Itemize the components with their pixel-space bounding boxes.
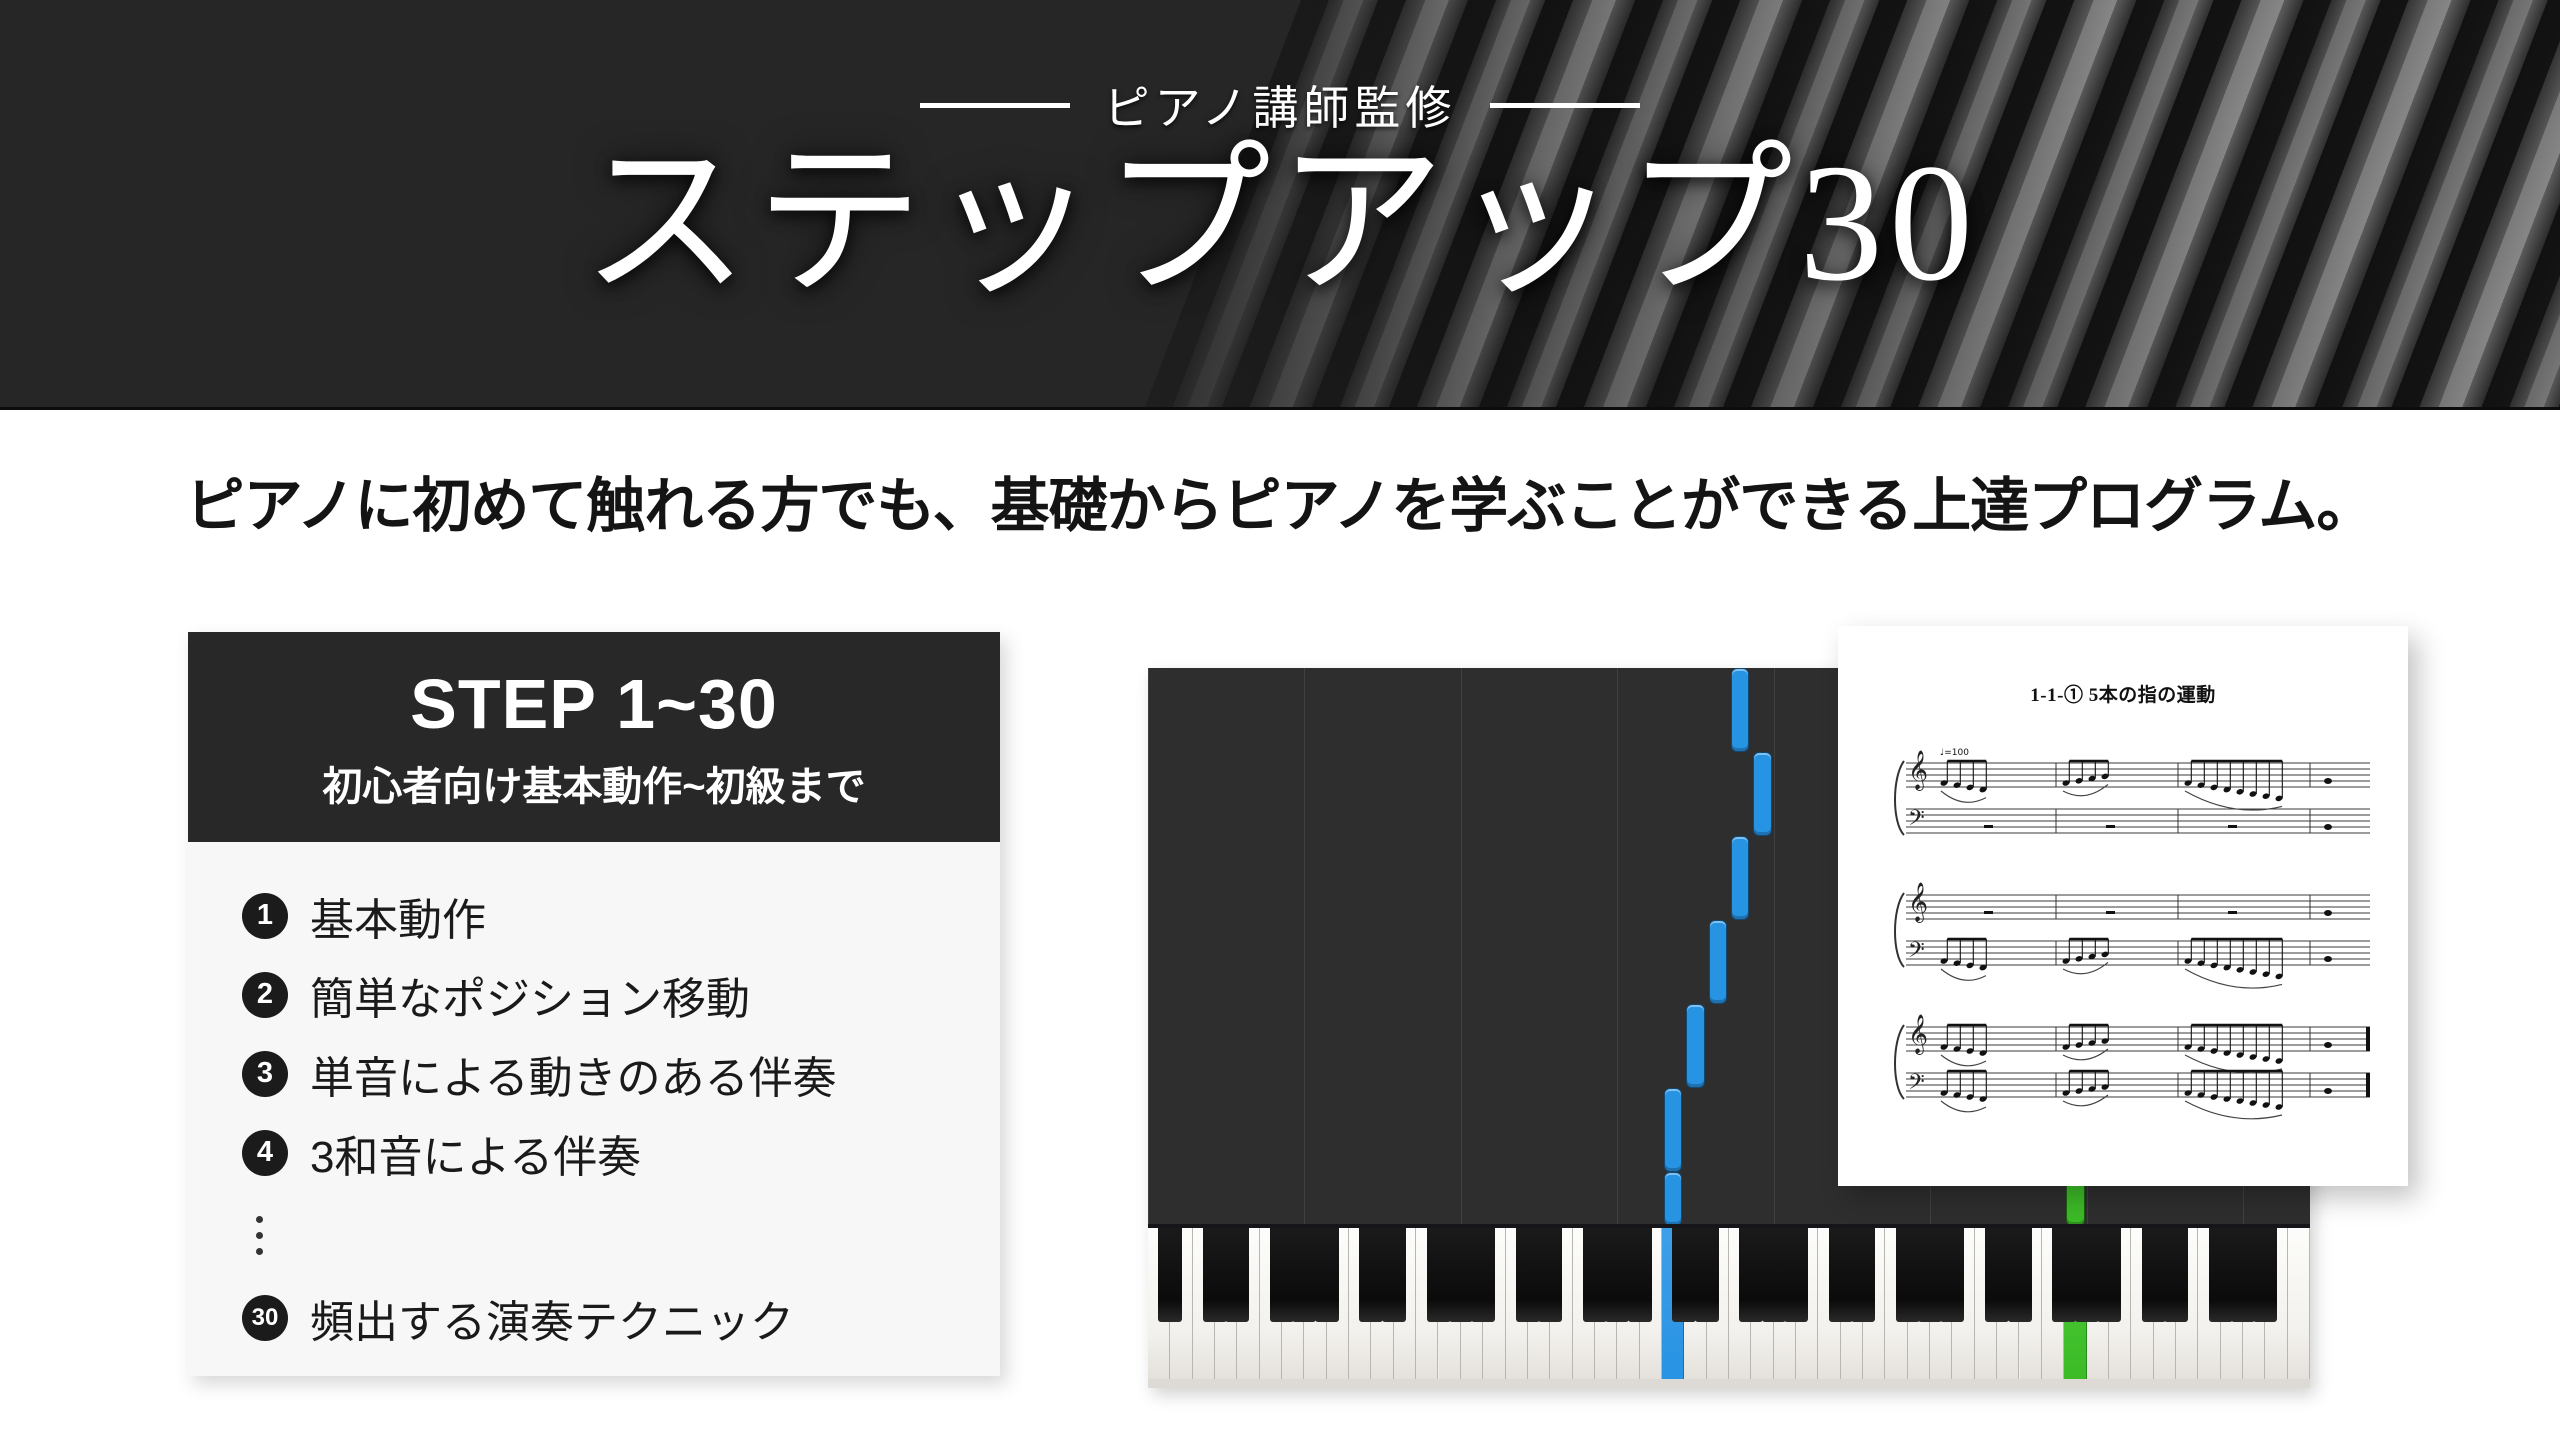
step-item-label: 基本動作: [310, 884, 486, 948]
note-block-right-hand: [1731, 668, 1749, 752]
piano-white-key[interactable]: [2288, 1224, 2310, 1379]
piano-black-key[interactable]: [1829, 1224, 1853, 1322]
piano-black-key[interactable]: [1538, 1224, 1562, 1322]
piano-black-key[interactable]: [1672, 1224, 1696, 1322]
piano-black-key[interactable]: [1471, 1224, 1495, 1322]
note-block-right-hand: [1686, 1004, 1704, 1088]
piano-black-key[interactable]: [1315, 1224, 1339, 1322]
svg-text:♩=100: ♩=100: [1940, 748, 1969, 758]
sheet-music-overlay: 1-1-① 5本の指の運動 𝄞𝄢♩=100𝄞𝄢𝄞𝄢: [1838, 626, 2408, 1186]
step-range-label: STEP 1~30: [410, 668, 778, 742]
piano-black-key[interactable]: [1985, 1224, 2009, 1322]
step-list-ellipsis: [242, 1192, 1000, 1278]
note-block-right-hand: [1731, 836, 1749, 920]
step-level-label: 初心者向け基本動作~初級まで: [322, 754, 865, 812]
step-number-badge: 30: [242, 1295, 288, 1341]
piano-black-key[interactable]: [1940, 1224, 1964, 1322]
piano-black-key[interactable]: [1605, 1224, 1629, 1322]
keyboard-top-edge: [1148, 1224, 2310, 1228]
step-item-label: 頻出する演奏テクニック: [310, 1286, 794, 1350]
piano-black-key[interactable]: [1449, 1224, 1473, 1322]
piano-black-key[interactable]: [1762, 1224, 1786, 1322]
keyboard-base: [1148, 1379, 2310, 1388]
banner-bottom-divider: [0, 407, 2560, 410]
piano-black-key[interactable]: [1516, 1224, 1540, 1322]
piano-black-key[interactable]: [1739, 1224, 1763, 1322]
piano-black-key[interactable]: [2209, 1224, 2233, 1322]
rule-left-icon: [920, 103, 1070, 108]
piano-black-key[interactable]: [2164, 1224, 2188, 1322]
octave-divider: [1148, 668, 1149, 1224]
piano-black-key[interactable]: [1158, 1224, 1182, 1322]
sheet-music-system: 𝄞𝄢: [1866, 1001, 2380, 1133]
step-number-badge: 1: [242, 893, 288, 939]
banner-eyebrow: ピアノ講師監修: [0, 72, 2560, 138]
piano-black-key[interactable]: [1292, 1224, 1316, 1322]
step-number-badge: 2: [242, 972, 288, 1018]
sheet-music-system: 𝄞𝄢♩=100: [1866, 737, 2380, 869]
rule-right-icon: [1490, 103, 1640, 108]
octave-divider: [1461, 668, 1462, 1224]
step-list: 1基本動作2簡単なポジション移動3単音による動きのある伴奏43和音による伴奏30…: [188, 842, 1000, 1357]
piano-black-key[interactable]: [1851, 1224, 1875, 1322]
page-title: ステップアップ30: [0, 135, 2560, 311]
svg-text:𝄞: 𝄞: [1908, 1014, 1928, 1055]
step-card: STEP 1~30 初心者向け基本動作~初級まで 1基本動作2簡単なポジション移…: [188, 632, 1000, 1376]
piano-black-key[interactable]: [2142, 1224, 2166, 1322]
piano-black-key[interactable]: [1583, 1224, 1607, 1322]
lead-subtitle: ピアノに初めて触れる方でも、基礎からピアノを学ぶことができる上達プログラム。: [0, 458, 2560, 543]
step-number-badge: 3: [242, 1051, 288, 1097]
piano-black-key[interactable]: [1427, 1224, 1451, 1322]
piano-black-key[interactable]: [2253, 1224, 2277, 1322]
piano-black-key[interactable]: [1784, 1224, 1808, 1322]
hero-banner: ピアノ講師監修 ステップアップ30: [0, 0, 2560, 410]
step-card-header: STEP 1~30 初心者向け基本動作~初級まで: [188, 632, 1000, 842]
piano-black-key[interactable]: [1382, 1224, 1406, 1322]
octave-divider: [1774, 668, 1775, 1224]
piano-black-key[interactable]: [1270, 1224, 1294, 1322]
piano-black-key[interactable]: [1628, 1224, 1652, 1322]
sheet-music-title: 1-1-① 5本の指の運動: [1838, 680, 2408, 707]
octave-divider: [1617, 668, 1618, 1224]
svg-text:𝄢: 𝄢: [1908, 938, 1925, 968]
banner-eyebrow-text: ピアノ講師監修: [1104, 72, 1457, 138]
svg-text:𝄞: 𝄞: [1908, 750, 1928, 791]
step-list-item: 30頻出する演奏テクニック: [242, 1278, 1000, 1357]
piano-black-key[interactable]: [2008, 1224, 2032, 1322]
piano-black-key[interactable]: [1359, 1224, 1383, 1322]
step-list-item: 2簡単なポジション移動: [242, 955, 1000, 1034]
step-list-item: 1基本動作: [242, 876, 1000, 955]
piano-black-key[interactable]: [2052, 1224, 2076, 1322]
svg-text:𝄞: 𝄞: [1908, 882, 1928, 923]
step-list-item: 3単音による動きのある伴奏: [242, 1034, 1000, 1113]
step-item-label: 簡単なポジション移動: [310, 963, 750, 1027]
octave-divider: [1304, 668, 1305, 1224]
piano-black-key[interactable]: [1203, 1224, 1227, 1322]
piano-black-key[interactable]: [1896, 1224, 1920, 1322]
note-block-right-hand: [1664, 1088, 1682, 1172]
piano-black-key[interactable]: [2231, 1224, 2255, 1322]
piano-black-key[interactable]: [1918, 1224, 1942, 1322]
sheet-music-systems: 𝄞𝄢♩=100𝄞𝄢𝄞𝄢: [1838, 737, 2408, 1133]
step-list-item: 43和音による伴奏: [242, 1113, 1000, 1192]
step-item-label: 単音による動きのある伴奏: [310, 1042, 837, 1106]
note-block-right-hand: [1709, 920, 1727, 1004]
piano-black-key[interactable]: [2075, 1224, 2099, 1322]
step-item-label: 3和音による伴奏: [310, 1121, 641, 1185]
piano-black-key[interactable]: [1695, 1224, 1719, 1322]
svg-text:𝄢: 𝄢: [1908, 806, 1925, 836]
piano-black-key[interactable]: [2097, 1224, 2121, 1322]
note-trail-right-hand: [1664, 1172, 1682, 1224]
piano-black-key[interactable]: [1225, 1224, 1249, 1322]
sheet-music-system: 𝄞𝄢: [1866, 869, 2380, 1001]
step-number-badge: 4: [242, 1130, 288, 1176]
svg-text:𝄢: 𝄢: [1908, 1070, 1925, 1100]
piano-keyboard[interactable]: [1148, 1224, 2310, 1388]
note-block-right-hand: [1753, 752, 1771, 836]
